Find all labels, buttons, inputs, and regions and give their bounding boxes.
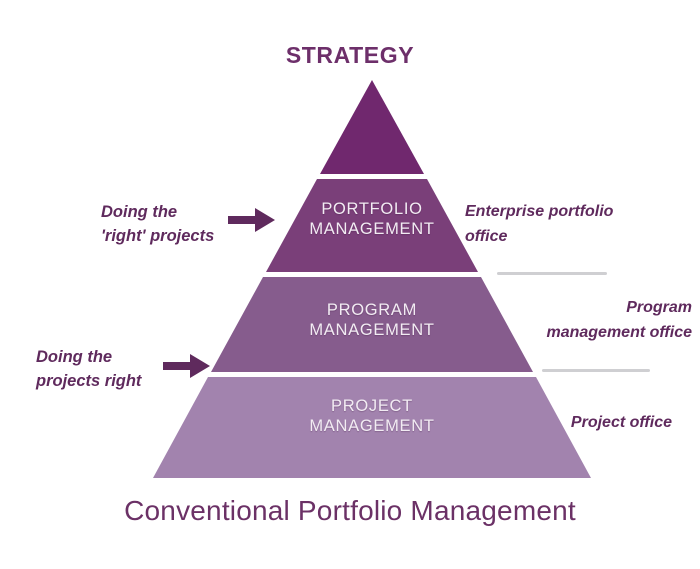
tier-label-program: PROGRAM MANAGEMENT	[282, 300, 462, 340]
pyramid-graphic	[0, 0, 700, 569]
right-annotation-program-management-office: Program management office	[470, 295, 692, 345]
left-annotation-doing-projects-right: Doing the projects right	[36, 345, 171, 393]
right-divider-line	[542, 369, 650, 372]
tier-label-project: PROJECT MANAGEMENT	[282, 396, 462, 436]
right-annotation-project-office: Project office	[470, 410, 672, 435]
pyramid-tier-strategy	[320, 80, 424, 174]
diagram-canvas: STRATEGY PORTFOLIO MANAGEMENT PROGRAM MA…	[0, 0, 700, 569]
tier-label-portfolio: PORTFOLIO MANAGEMENT	[292, 199, 452, 239]
diagram-caption: Conventional Portfolio Management	[0, 495, 700, 527]
right-divider-line	[497, 272, 607, 275]
right-arrow-icon	[228, 207, 276, 233]
right-arrow-icon	[163, 353, 211, 379]
left-annotation-doing-right-projects: Doing the 'right' projects	[101, 200, 236, 248]
right-annotation-enterprise-portfolio-office: Enterprise portfolio office	[465, 199, 690, 249]
